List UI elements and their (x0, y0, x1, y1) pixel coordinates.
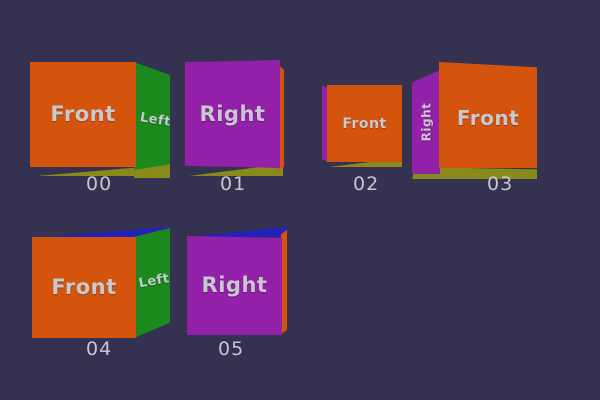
cube-01[interactable]: Right (185, 60, 295, 180)
cube-04-face-front-label: Front (51, 277, 116, 298)
cube-03-face-right-label: Right (420, 103, 432, 142)
cube-03-face-right: Right (412, 70, 440, 174)
cube-05-face-top (187, 227, 287, 237)
cube-05-face-right-label: Right (202, 275, 268, 296)
cube-00[interactable]: Left Front (30, 62, 190, 182)
cube-05[interactable]: Right (185, 228, 300, 338)
cube-04-face-front: Front (32, 237, 136, 338)
cube-02-face-front-label: Front (342, 117, 386, 131)
cube-04[interactable]: Left Front (30, 228, 190, 338)
cube-00-index: 00 (86, 175, 112, 194)
cube-03-index: 03 (487, 175, 513, 194)
cube-02[interactable]: Front (322, 82, 407, 177)
cube-00-face-left-label: Left (139, 111, 170, 129)
cube-03-face-front-label: Front (457, 108, 519, 128)
cube-03[interactable]: Right Front (406, 62, 551, 187)
cube-00-face-front: Front (30, 62, 136, 167)
cube-01-face-right: Right (185, 60, 280, 168)
cube-02-face-front: Front (327, 85, 402, 162)
cube-05-face-right: Right (187, 236, 282, 335)
cube-04-face-left-label: Left (137, 272, 170, 290)
cube-04-face-left: Left (134, 228, 170, 338)
cube-04-index: 04 (86, 340, 112, 359)
cube-01-face-right-label: Right (200, 104, 266, 125)
cube-00-face-left: Left (134, 54, 170, 170)
cube-00-face-front-label: Front (50, 104, 115, 125)
cube-02-index: 02 (353, 175, 379, 194)
cube-scene: Left Front 00 Right 01 Front 02 (0, 0, 600, 400)
cube-01-index: 01 (220, 175, 246, 194)
cube-05-index: 05 (218, 340, 244, 359)
cube-03-face-front: Front (439, 62, 537, 168)
